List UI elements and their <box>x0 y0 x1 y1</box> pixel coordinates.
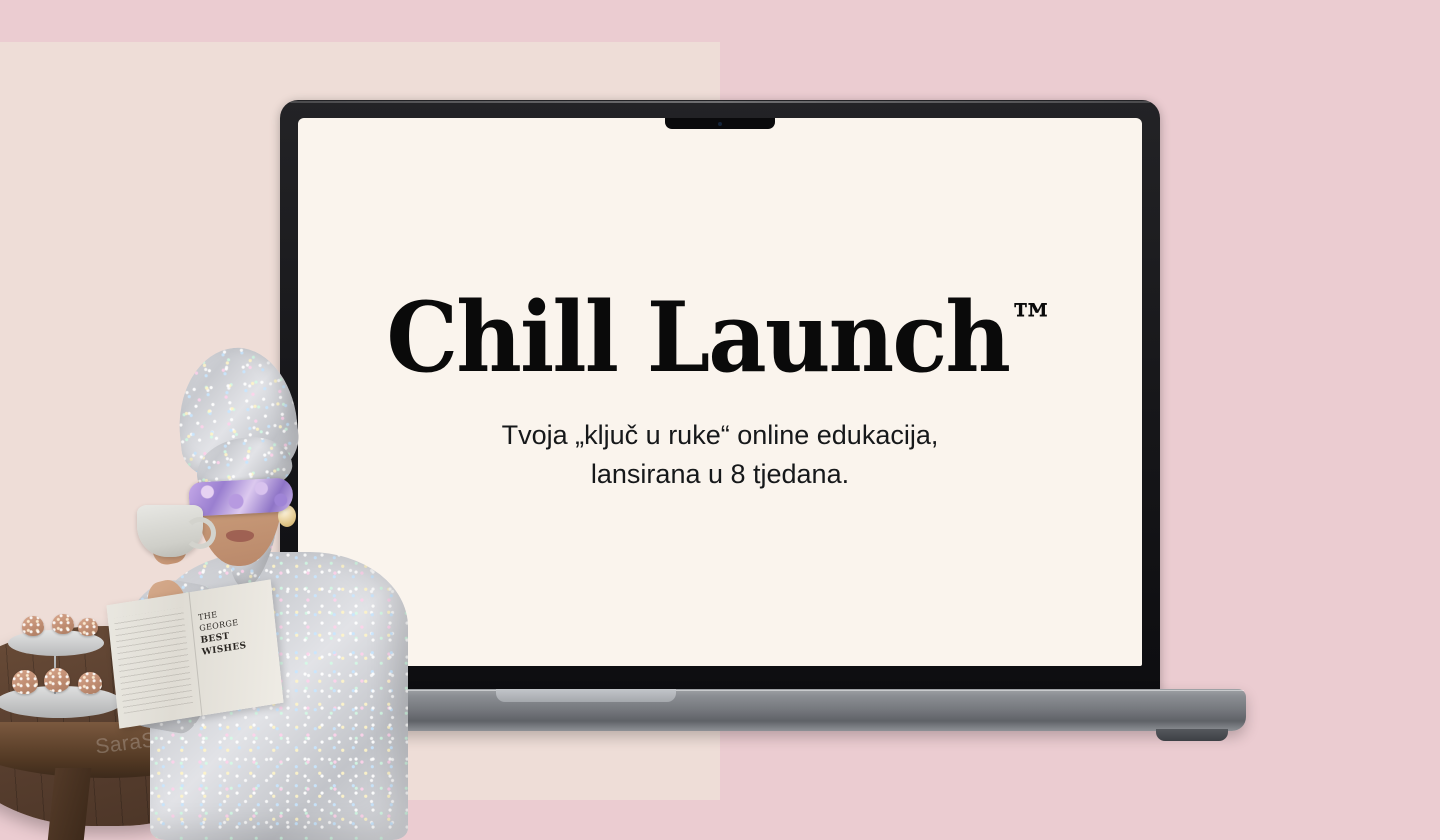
subtitle-line-2: lansirana u 8 tjedana. <box>591 459 849 489</box>
menu-line-1: THE <box>198 610 218 622</box>
pastry <box>44 668 70 692</box>
table-leg <box>45 768 92 840</box>
face <box>196 452 282 566</box>
menu-line-4: WISHES <box>201 641 247 658</box>
crystal-sunglasses-icon <box>188 477 294 516</box>
hand <box>149 525 189 566</box>
headline-text: Chill Launch <box>386 281 1009 394</box>
lips <box>226 530 254 542</box>
sequin-sleeve <box>108 573 229 737</box>
laptop-base <box>336 689 1246 745</box>
earring <box>278 505 296 527</box>
menu-text: THE GEORGE BEST WISHES <box>198 602 270 658</box>
subtitle-line-1: Tvoja „ključ u ruke“ online edukacija, <box>502 420 939 450</box>
turban-tail <box>218 468 284 591</box>
cake-stand-post <box>54 630 56 694</box>
arm <box>143 577 199 662</box>
pastry <box>22 616 44 636</box>
pastry <box>12 670 38 694</box>
pastry <box>78 672 102 694</box>
watermark: SaraShakeel <box>94 720 222 759</box>
pastry <box>78 618 98 636</box>
background-top-strip <box>0 0 720 42</box>
laptop-base-body <box>336 689 1246 731</box>
laptop-lid-groove <box>496 689 676 702</box>
menu-line-3: BEST <box>200 631 230 646</box>
cake-stand-upper-tier <box>8 630 104 656</box>
turban-knot <box>193 432 296 501</box>
menu-body-lines <box>114 607 193 713</box>
menu-card: THE GEORGE BEST WISHES <box>106 579 283 728</box>
trademark-symbol: ™ <box>1009 294 1054 350</box>
saucer-plate <box>140 670 232 704</box>
webcam-icon <box>718 122 722 126</box>
collage-figure: SaraShakeel THE GEORGE BEST WISH <box>0 330 430 840</box>
subtitle: Tvoja „ključ u ruke“ online edukacija, l… <box>502 416 939 494</box>
menu-line-2: GEORGE <box>199 618 239 633</box>
wooden-table <box>0 626 270 826</box>
cake-stand-lower-tier <box>0 686 122 718</box>
table-edge <box>0 722 270 778</box>
sequin-robe <box>150 552 408 840</box>
sequin-turban <box>171 342 302 486</box>
pastry <box>52 614 74 634</box>
page-title: Chill Launch™ <box>386 290 1054 386</box>
teacup <box>137 505 203 557</box>
slide-canvas: Chill Launch™ Tvoja „ključ u ruke“ onlin… <box>0 0 1440 840</box>
laptop-rubber-foot <box>1156 729 1228 741</box>
